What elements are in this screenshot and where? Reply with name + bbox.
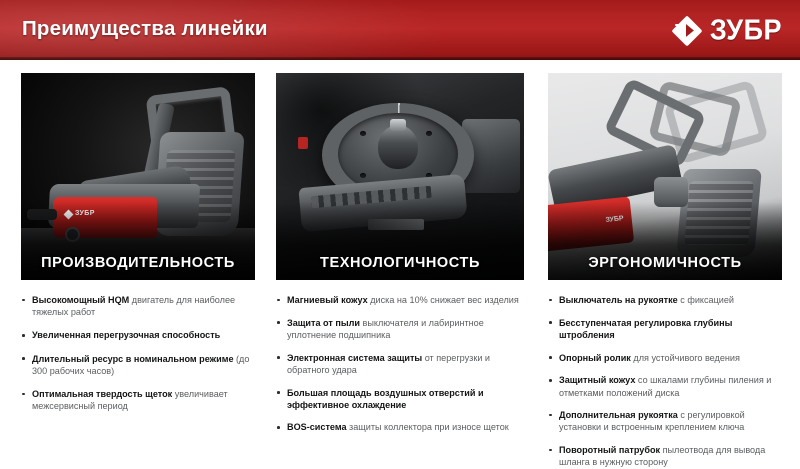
list-item: Оптимальная твердость щеток увеличивает …: [21, 388, 255, 412]
panel-caption-technology: ТЕХНОЛОГИЧНОСТЬ: [276, 255, 524, 271]
brand-name: ЗУБР: [710, 16, 782, 45]
list-item: Магниевый кожух диска на 10% снижает вес…: [276, 294, 524, 306]
list-item: Защитный кожух со шкалами глубины пилени…: [548, 374, 782, 398]
advantages-columns: ПРОИЗВОДИТЕЛЬНОСТЬ Высокомощный HQM двиг…: [0, 60, 800, 450]
brand-logo: ЗУБР: [672, 14, 782, 47]
list-item: Увеличенная перегрузочная способность: [21, 329, 255, 341]
bullet-list-technology: Магниевый кожух диска на 10% снижает вес…: [276, 294, 524, 434]
list-item: Длительный ресурс в номинальном режиме (…: [21, 353, 255, 377]
page-header: Преимущества линейки ЗУБР: [0, 0, 800, 60]
list-item: BOS-система защиты коллектора при износе…: [276, 421, 524, 433]
bullet-list-ergonomics: Выключатель на рукоятке с фиксацией Бесс…: [548, 294, 782, 469]
image-panel-performance: ПРОИЗВОДИТЕЛЬНОСТЬ: [21, 73, 255, 280]
list-item: Выключатель на рукоятке с фиксацией: [548, 294, 782, 306]
image-panel-technology: ТЕХНОЛОГИЧНОСТЬ: [276, 73, 524, 280]
zubr-diamond-arrow-icon: [672, 15, 703, 46]
list-item: Высокомощный HQM двигатель для наиболее …: [21, 294, 255, 318]
list-item: Поворотный патрубок пылеотвода для вывод…: [548, 444, 782, 468]
list-item: Большая площадь воздушных отверстий и эф…: [276, 387, 524, 411]
list-item: Дополнительная рукоятка с регулировкой у…: [548, 409, 782, 433]
page-title: Преимущества линейки: [22, 17, 268, 41]
list-item: Электронная система защиты от перегрузки…: [276, 352, 524, 376]
column-technology: ТЕХНОЛОГИЧНОСТЬ Магниевый кожух диска на…: [265, 60, 534, 450]
image-panel-ergonomics: ЭРГОНОМИЧНОСТЬ: [548, 73, 782, 280]
panel-caption-performance: ПРОИЗВОДИТЕЛЬНОСТЬ: [21, 255, 255, 271]
bullet-list-performance: Высокомощный HQM двигатель для наиболее …: [21, 294, 255, 412]
list-item: Бесступенчатая регулировка глубины штроб…: [548, 317, 782, 341]
list-item: Опорный ролик для устойчивого ведения: [548, 352, 782, 364]
panel-caption-ergonomics: ЭРГОНОМИЧНОСТЬ: [548, 255, 782, 271]
column-ergonomics: ЭРГОНОМИЧНОСТЬ Выключатель на рукоятке с…: [534, 60, 800, 450]
list-item: Защита от пыли выключателя и лабиринтное…: [276, 317, 524, 341]
column-performance: ПРОИЗВОДИТЕЛЬНОСТЬ Высокомощный HQM двиг…: [0, 60, 265, 450]
